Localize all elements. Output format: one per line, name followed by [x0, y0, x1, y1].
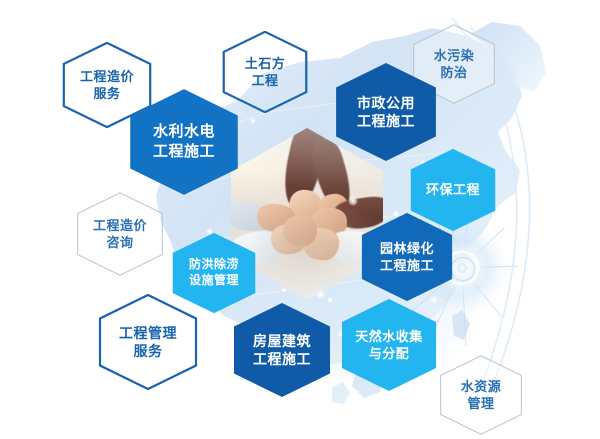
infographic-canvas: 工程造价 服务土石方 工程水污染 防治市政公用 工程施工水利水电 工程施工环保工…: [0, 0, 600, 439]
hexagon-natural-water-collection-distribution[interactable]: 天然水收集 与分配: [340, 298, 438, 392]
hexagon-label: 房屋建筑 工程施工: [253, 332, 311, 369]
hexagon-label: 市政公用 工程施工: [357, 94, 415, 131]
hexagon-label: 园林绿化 工程施工: [380, 240, 434, 274]
hexagon-landscaping-engineering-construction[interactable]: 园林绿化 工程施工: [360, 212, 454, 302]
hexagon-engineering-management-service[interactable]: 工程管理 服务: [98, 294, 198, 390]
hexagon-engineering-cost-consulting[interactable]: 工程造价 咨询: [76, 192, 164, 276]
hexagon-building-construction-engineering[interactable]: 房屋建筑 工程施工: [232, 302, 332, 398]
hexagon-municipal-public-works-construction[interactable]: 市政公用 工程施工: [334, 62, 438, 162]
hexagon-label: 天然水收集 与分配: [355, 328, 423, 362]
hexagon-label: 工程管理 服务: [119, 324, 177, 361]
hexagon-label: 水污染 防治: [434, 47, 475, 81]
hexagon-label: 工程造价 服务: [80, 68, 134, 102]
hexagon-label: 环保工程: [426, 181, 480, 198]
hexagon-label: 水资源 管理: [461, 378, 502, 412]
hexagon-label: 水利水电 工程施工: [153, 122, 215, 162]
sparkle-icon: [250, 118, 256, 124]
hexagon-label: 防洪除涝 设施管理: [189, 257, 239, 289]
hexagon-label: 土石方 工程: [245, 55, 286, 89]
hexagon-water-resources-management[interactable]: 水资源 管理: [439, 355, 523, 435]
hexagon-label: 工程造价 咨询: [93, 217, 147, 251]
hexagon-water-conservancy-hydropower-construction[interactable]: 水利水电 工程施工: [128, 88, 240, 196]
